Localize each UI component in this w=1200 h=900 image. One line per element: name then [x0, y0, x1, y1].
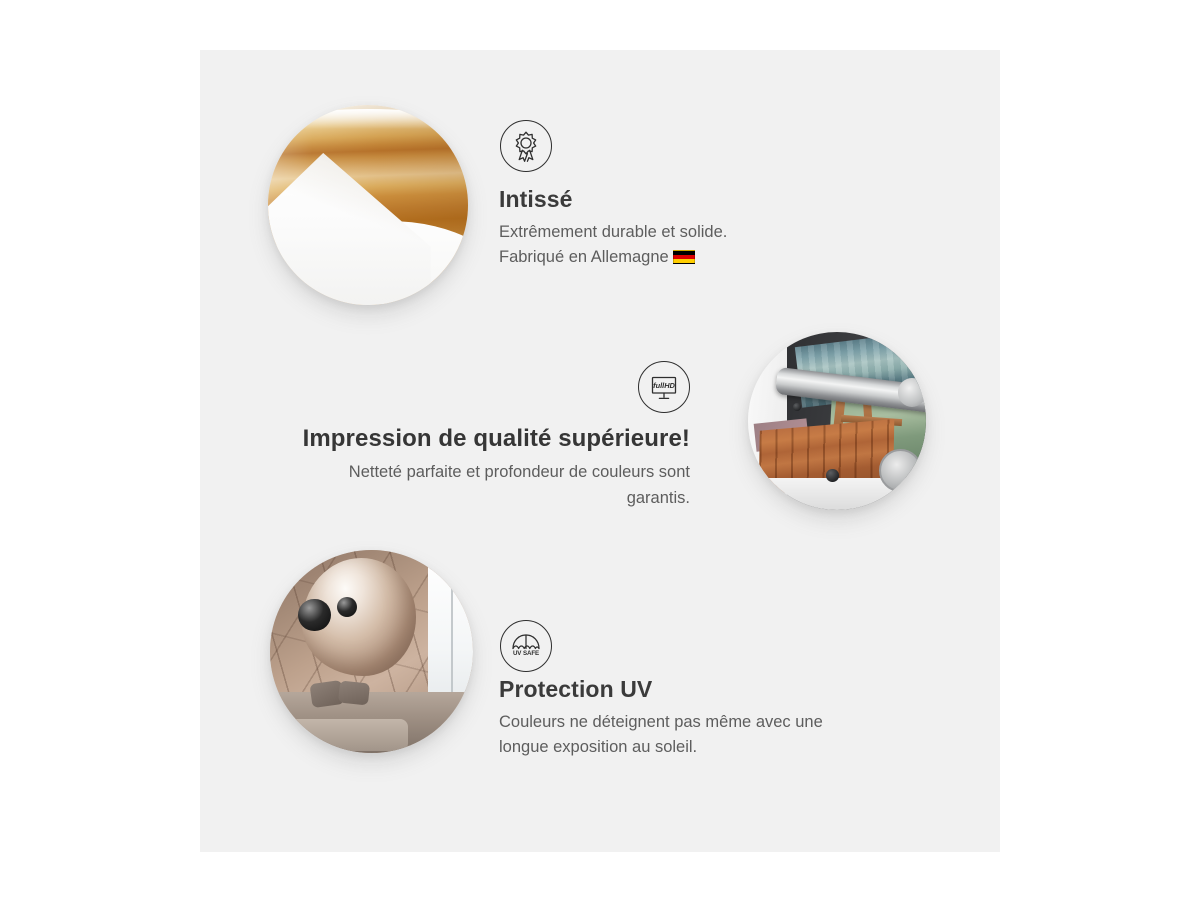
interior-mural-photo — [270, 550, 473, 753]
feature-title-impression: Impression de qualité supérieure! — [280, 425, 690, 454]
protection-uv-text-block: Protection UV Couleurs ne déteignent pas… — [499, 676, 919, 761]
feature-title-intisse: Intissé — [499, 186, 919, 214]
printer-knob-2 — [793, 403, 801, 411]
uv-desc-line-1: Couleurs ne déteignent pas même avec une — [499, 713, 823, 731]
printer-knob-1 — [826, 469, 838, 481]
printer-wheel-small — [898, 378, 926, 406]
mural-black-sphere-large — [298, 599, 330, 631]
intisse-text-block: Intissé Extrêmement durable et solide. F… — [499, 186, 919, 271]
svg-text:fullHD: fullHD — [653, 381, 675, 390]
impression-text-block: Impression de qualité supérieure! Nettet… — [280, 425, 690, 511]
intisse-desc-line-2: Fabriqué en Allemagne — [499, 248, 669, 266]
sofa-seat — [278, 719, 408, 751]
feature-description-impression: Netteté parfaite et profondeur de couleu… — [280, 460, 690, 511]
printing-machine-photo — [748, 332, 926, 510]
uv-desc-line-2: longue exposition au soleil. — [499, 738, 697, 756]
feature-description-intisse: Extrêmement durable et solide. Fabriqué … — [499, 220, 919, 271]
sofa-cushion-2 — [338, 680, 371, 705]
feature-description-protection-uv: Couleurs ne déteignent pas même avec une… — [499, 710, 919, 761]
svg-text:UV SAFE: UV SAFE — [513, 650, 539, 657]
feature-title-protection-uv: Protection UV — [499, 676, 919, 704]
infographic-stage: Intissé Extrêmement durable et solide. F… — [0, 0, 1200, 900]
wallpaper-roll-photo — [268, 105, 468, 305]
intisse-desc-line-1: Extrêmement durable et solide. — [499, 223, 727, 241]
impression-desc-line-2: garantis. — [627, 489, 690, 507]
impression-desc-line-1: Netteté parfaite et profondeur de couleu… — [349, 463, 690, 481]
german-flag-icon — [673, 250, 695, 264]
award-ribbon-icon — [500, 120, 552, 172]
uv-safe-umbrella-icon: UV SAFE — [500, 620, 552, 672]
fullhd-monitor-icon: fullHD — [638, 361, 690, 413]
